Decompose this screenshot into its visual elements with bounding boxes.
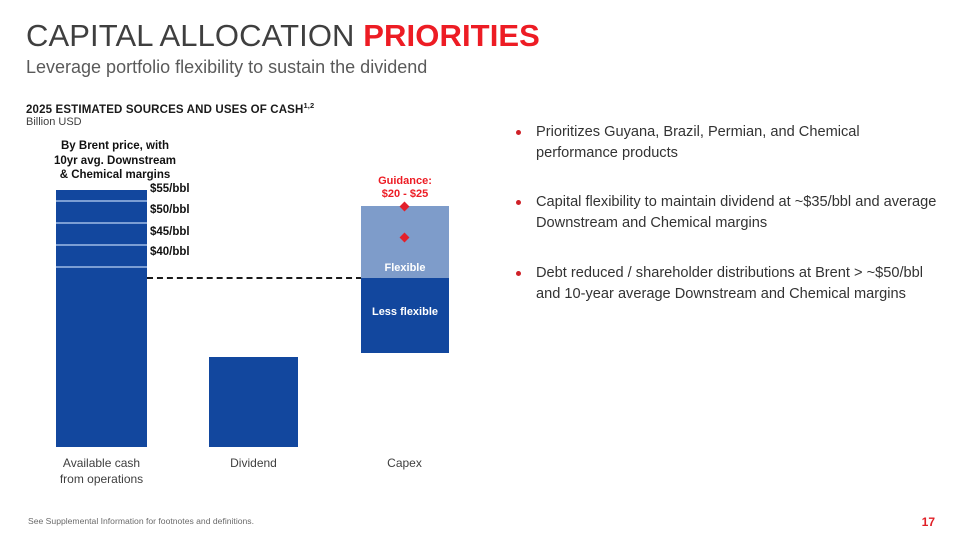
bullet-dot-icon	[516, 130, 521, 135]
segment-divider-45	[56, 244, 147, 246]
chart-container: 2025 ESTIMATED SOURCES AND USES OF CASH1…	[0, 0, 500, 500]
capex-guidance-annotation: Guidance: $20 - $25	[353, 175, 457, 202]
brent-price-caption: By Brent price, with 10yr avg. Downstrea…	[26, 139, 204, 183]
chart-heading-footnote-marker: 1,2	[303, 101, 314, 110]
bullet-dot-icon	[516, 271, 521, 276]
capex-flexible-label: Flexible	[361, 262, 449, 274]
footnote-text: See Supplemental Information for footnot…	[28, 516, 254, 526]
bar-capex-flexible-segment[interactable]: Flexible	[361, 206, 449, 278]
brent-label-45: $45/bbl	[150, 226, 190, 238]
bullet-item-2: Capital flexibility to maintain dividend…	[513, 192, 943, 233]
category-label-available-cash: Available cash from operations	[36, 455, 167, 487]
segment-divider-55	[56, 200, 147, 202]
bullet-text-2: Capital flexibility to maintain dividend…	[536, 194, 936, 231]
brent-caption-line-3: & Chemical margins	[26, 168, 204, 183]
dashed-reference-line	[147, 277, 362, 279]
capex-less-flexible-label: Less flexible	[361, 306, 449, 318]
bullet-text-1: Prioritizes Guyana, Brazil, Permian, and…	[536, 124, 860, 161]
chart-units-label: Billion USD	[26, 116, 82, 128]
chart-heading-text: 2025 ESTIMATED SOURCES AND USES OF CASH	[26, 104, 303, 116]
brent-caption-line-2: 10yr avg. Downstream	[26, 154, 204, 169]
category-label-available-cash-line2: from operations	[36, 471, 167, 487]
bar-available-cash[interactable]	[56, 190, 147, 447]
brent-label-50: $50/bbl	[150, 204, 190, 216]
guidance-range: $20 - $25	[353, 188, 457, 201]
brent-label-55: $55/bbl	[150, 183, 190, 195]
category-label-dividend: Dividend	[194, 455, 313, 471]
segment-divider-40	[56, 266, 147, 268]
bullet-item-1: Prioritizes Guyana, Brazil, Permian, and…	[513, 122, 943, 163]
bar-dividend[interactable]	[209, 357, 298, 447]
category-label-available-cash-line1: Available cash	[36, 455, 167, 471]
bar-capex-less-flexible-segment[interactable]: Less flexible	[361, 278, 449, 353]
chart-units-text: Billion USD	[26, 116, 82, 128]
segment-divider-50	[56, 222, 147, 224]
brent-label-40: $40/bbl	[150, 246, 190, 258]
bullet-item-3: Debt reduced / shareholder distributions…	[513, 263, 943, 304]
bullet-text-3: Debt reduced / shareholder distributions…	[536, 265, 923, 302]
brent-caption-line-1: By Brent price, with	[26, 139, 204, 154]
bullet-dot-icon	[516, 200, 521, 205]
category-label-capex: Capex	[345, 455, 464, 471]
bullet-list: Prioritizes Guyana, Brazil, Permian, and…	[513, 122, 943, 304]
guidance-label: Guidance:	[353, 175, 457, 188]
page-number: 17	[922, 515, 935, 529]
chart-heading: 2025 ESTIMATED SOURCES AND USES OF CASH1…	[26, 101, 314, 116]
